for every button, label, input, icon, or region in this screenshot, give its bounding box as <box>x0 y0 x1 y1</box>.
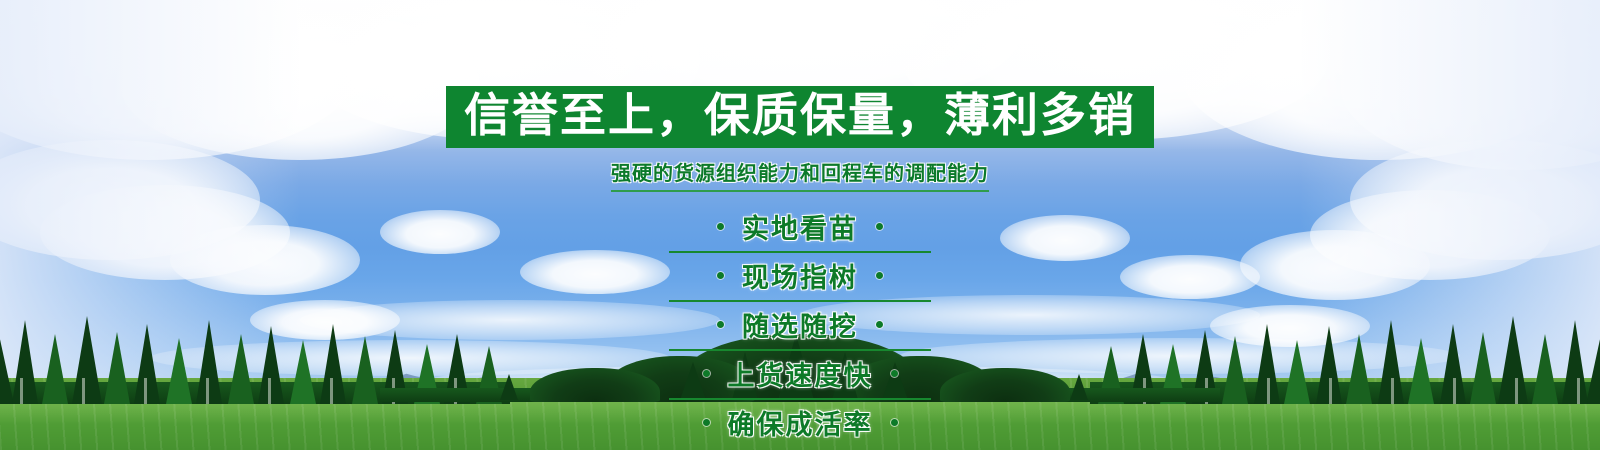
subtitle-text: 强硬的货源组织能力和回程车的调配能力 <box>611 157 989 192</box>
bullet-dot-icon <box>717 321 724 328</box>
list-item: 上货速度快 <box>669 351 931 400</box>
list-item-label: 现场指树 <box>742 256 858 295</box>
bullet-dot-icon <box>876 321 883 328</box>
promotional-banner: 信誉至上，保质保量，薄利多销 强硬的货源组织能力和回程车的调配能力 实地看苗 现… <box>0 0 1600 450</box>
headline-text: 信誉至上，保质保量，薄利多销 <box>464 92 1136 138</box>
banner-text-content: 信誉至上，保质保量，薄利多销 强硬的货源组织能力和回程车的调配能力 实地看苗 现… <box>0 0 1600 450</box>
feature-list: 实地看苗 现场指树 随选随挖 上货速度快 确保成活率 <box>669 204 931 447</box>
list-item-label: 实地看苗 <box>742 207 858 246</box>
bullet-dot-icon <box>891 419 898 426</box>
list-item-label: 随选随挖 <box>742 305 858 344</box>
list-item: 确保成活率 <box>669 400 931 447</box>
bullet-dot-icon <box>703 370 710 377</box>
list-item-label: 确保成活率 <box>728 403 873 442</box>
list-item: 现场指树 <box>669 253 931 302</box>
bullet-dot-icon <box>717 223 724 230</box>
bullet-dot-icon <box>717 272 724 279</box>
bullet-dot-icon <box>876 272 883 279</box>
headline-band: 信誉至上，保质保量，薄利多销 <box>446 86 1154 148</box>
list-item: 随选随挖 <box>669 302 931 351</box>
bullet-dot-icon <box>703 419 710 426</box>
list-item: 实地看苗 <box>669 204 931 253</box>
list-item-label: 上货速度快 <box>728 354 873 393</box>
bullet-dot-icon <box>876 223 883 230</box>
bullet-dot-icon <box>891 370 898 377</box>
